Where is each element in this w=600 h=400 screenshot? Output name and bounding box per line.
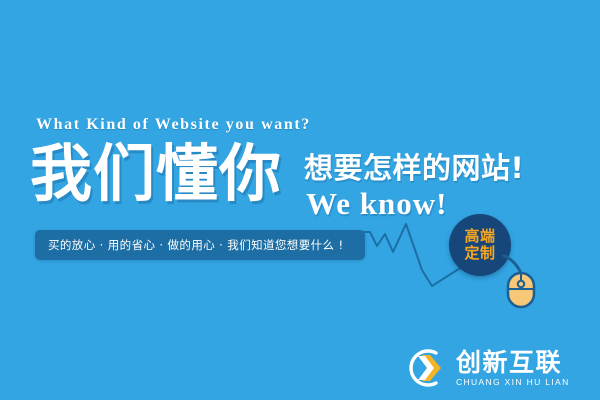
logo-pinyin: CHUANG XIN HU LIAN	[456, 377, 570, 388]
logo-chinese-name: 创新互联	[456, 349, 570, 376]
cx-circle-logo-icon	[398, 344, 450, 392]
promo-banner: What Kind of Website you want? 我们懂你 想要怎样…	[0, 0, 600, 400]
company-logo[interactable]: 创新互联 CHUANG XIN HU LIAN	[398, 343, 588, 393]
tagline-ribbon-text: 买的放心 · 用的省心 · 做的用心 · 我们知道您想要什么 !	[35, 237, 343, 253]
badge-line-2: 定制	[464, 245, 495, 262]
english-kicker: What Kind of Website you want?	[36, 116, 311, 134]
tagline-ribbon: 买的放心 · 用的省心 · 做的用心 · 我们知道您想要什么 !	[35, 230, 365, 260]
sub-headline-english: We know!	[306, 186, 448, 222]
sub-headline-chinese: 想要怎样的网站!	[304, 152, 524, 184]
main-headline: 我们懂你	[30, 142, 282, 206]
computer-mouse-icon	[498, 255, 544, 309]
badge-line-1: 高端	[464, 228, 495, 245]
